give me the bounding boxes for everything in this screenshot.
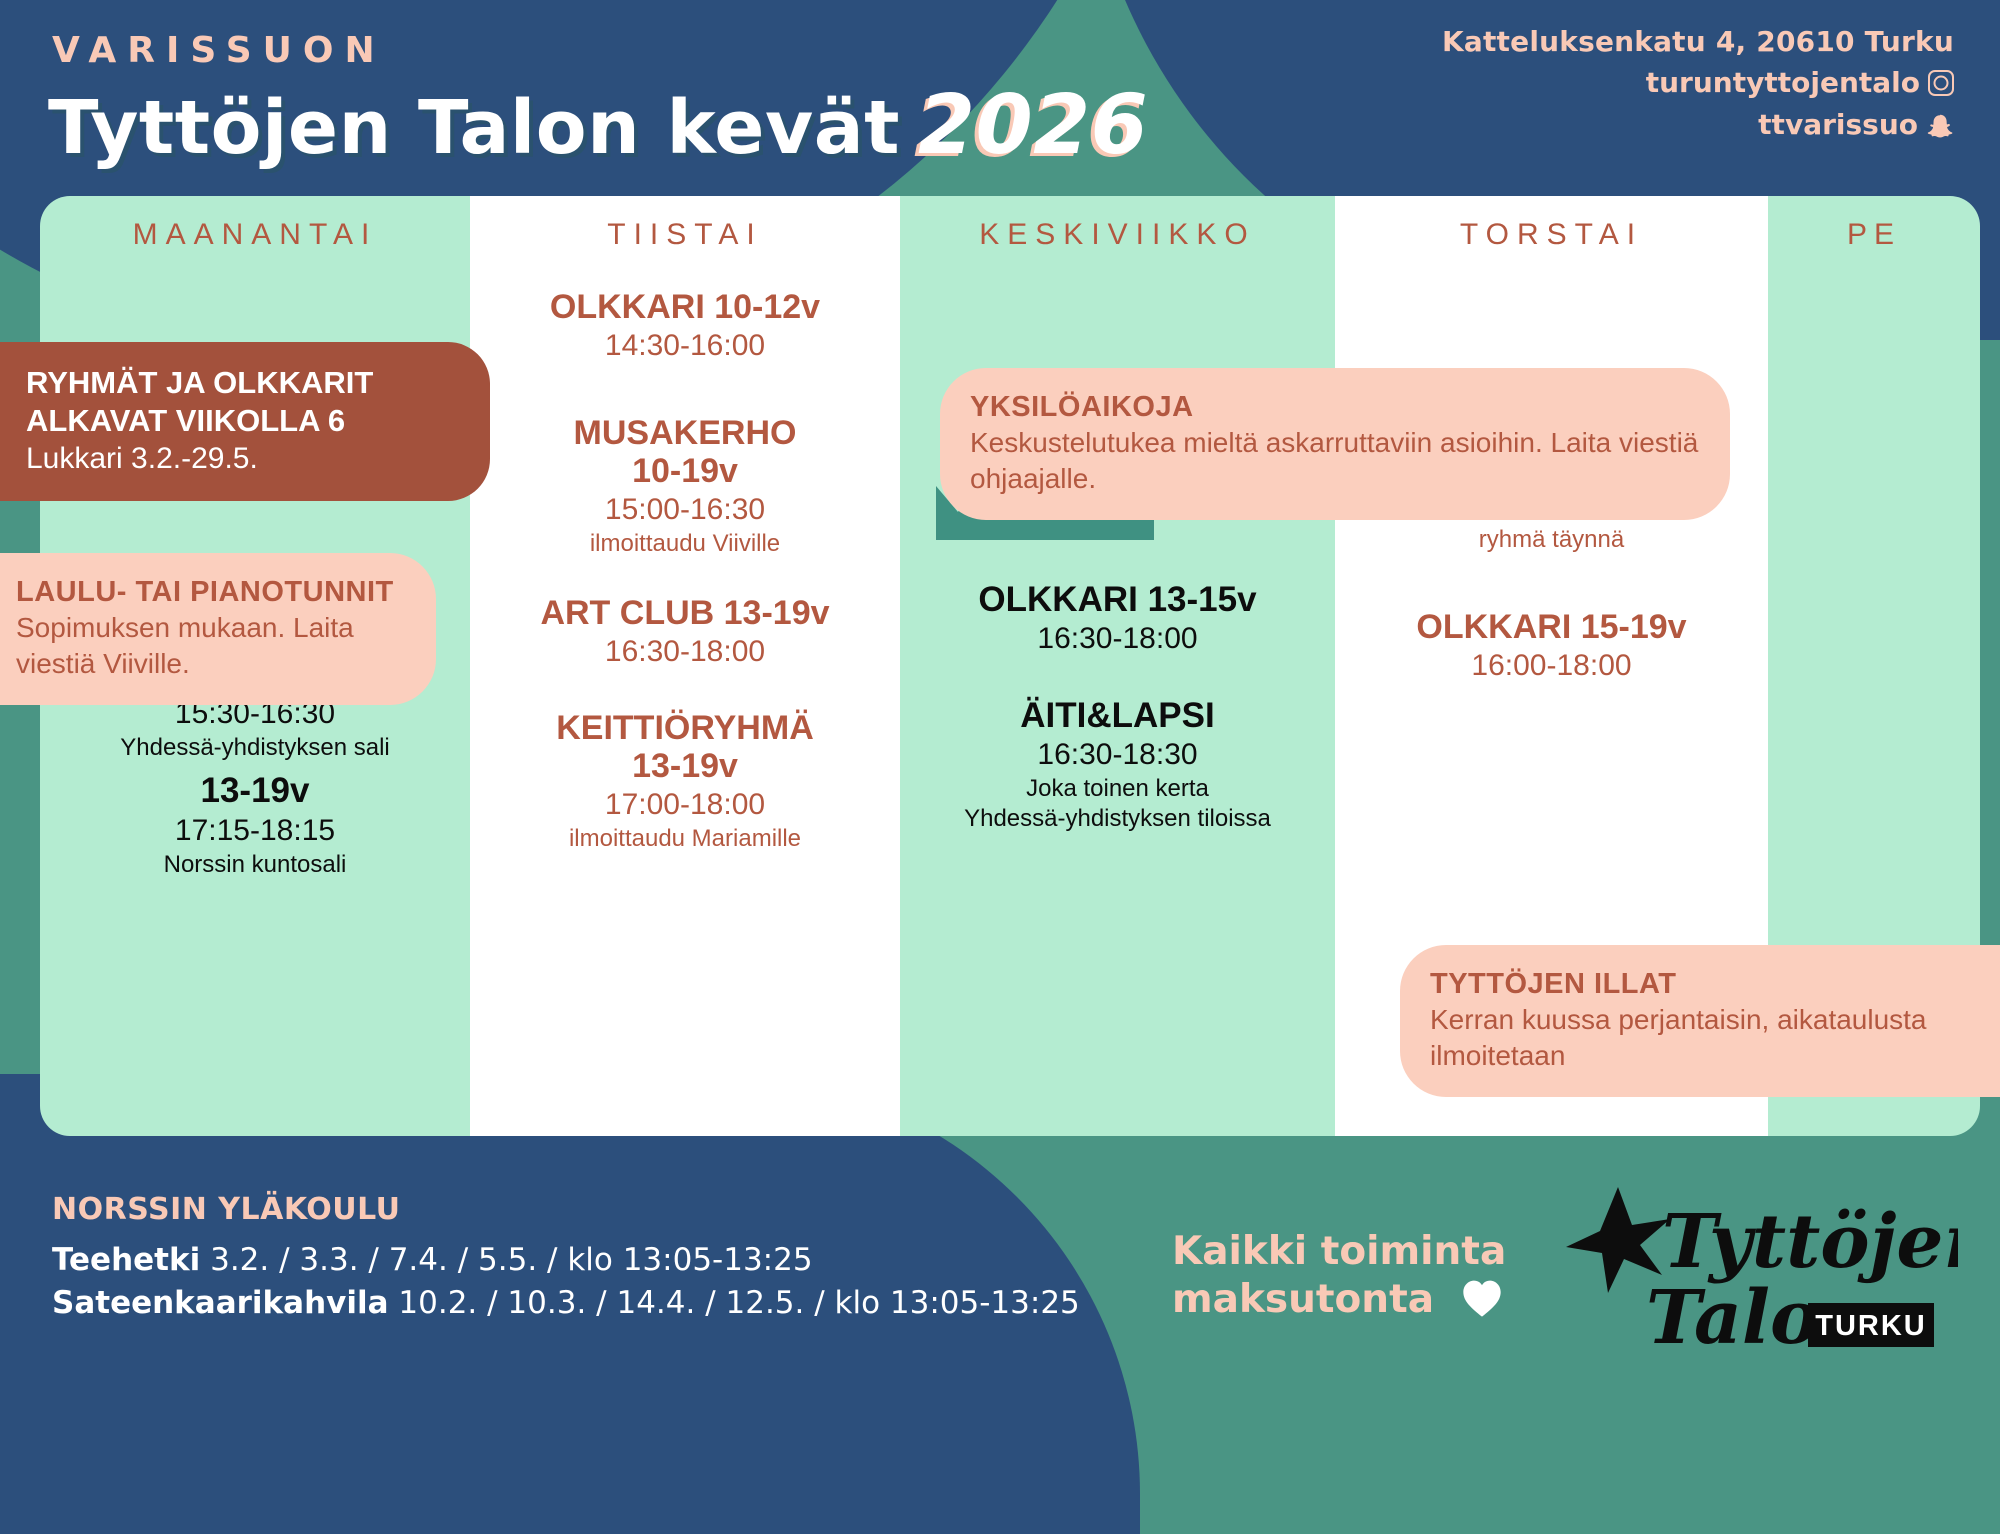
footer-label-sateenkaarikahvila: Sateenkaarikahvila bbox=[52, 1285, 389, 1321]
contact-info: Katteluksenkatu 4, 20610 Turku turuntytt… bbox=[1442, 22, 1954, 146]
wednesday-olkkari-title: OLKKARI 13-15v bbox=[900, 580, 1335, 619]
day-header-tuesday: TIISTAI bbox=[470, 218, 900, 252]
tuesday-keittio-note: ilmoittaudu Mariamille bbox=[470, 824, 900, 854]
free-note-line1: Kaikki toiminta bbox=[1172, 1228, 1506, 1276]
wednesday-pill-title: YKSILÖAIKOJA bbox=[970, 390, 1700, 425]
monday-laulu-piano-pill: LAULU- TAI PIANOTUNNIT Sopimuksen mukaan… bbox=[0, 553, 436, 705]
tuesday-musakerho-title: MUSAKERHO bbox=[470, 414, 900, 452]
snapchat-handle: ttvarissuo bbox=[1758, 104, 1918, 146]
footer-row-sateenkaarikahvila: Sateenkaarikahvila 10.2. / 10.3. / 14.4.… bbox=[52, 1282, 1080, 1325]
thursday-olkkari-title: OLKKARI 15-19v bbox=[1335, 608, 1768, 646]
instagram-row[interactable]: turuntyttojentalo bbox=[1442, 62, 1954, 104]
monday-pill-title: LAULU- TAI PIANOTUNNIT bbox=[16, 575, 406, 610]
free-activity-note: Kaikki toiminta maksutonta bbox=[1172, 1228, 1506, 1323]
thursday-pill-title: TYTTÖJEN ILLAT bbox=[1430, 967, 1990, 1002]
day-header-wednesday: KESKIVIIKKO bbox=[900, 218, 1335, 252]
svg-text:TURKU: TURKU bbox=[1815, 1310, 1927, 1342]
tuesday-olkkari-title: OLKKARI 10-12v bbox=[470, 288, 900, 326]
page-title-text: Tyttöjen Talon kevät bbox=[48, 85, 900, 171]
monday-liikunta-time2: 17:15-18:15 bbox=[40, 811, 470, 850]
day-column-wednesday: KESKIVIIKKO OLKKARI 13-15v 16:30-18:00 Ä… bbox=[900, 196, 1335, 1136]
day-header-thursday: TORSTAI bbox=[1335, 218, 1768, 252]
poster-header: VARISSUON Tyttöjen Talon kevät2026 Katte… bbox=[0, 0, 2000, 196]
footer-row-teehetki: Teehetki 3.2. / 3.3. / 7.4. / 5.5. / klo… bbox=[52, 1239, 1080, 1282]
footer-school-heading: NORSSIN YLÄKOULU bbox=[52, 1192, 1080, 1227]
tuesday-musakerho-time: 15:00-16:30 bbox=[470, 490, 900, 529]
wednesday-aitilapsi-note1: Joka toinen kerta bbox=[900, 774, 1335, 804]
thursday-kotakerho-note: ryhmä täynnä bbox=[1335, 525, 1768, 555]
wednesday-olkkari-block: OLKKARI 13-15v 16:30-18:00 bbox=[900, 580, 1335, 658]
footer-value-sateenkaarikahvila: 10.2. / 10.3. / 14.4. / 12.5. / klo 13:0… bbox=[398, 1285, 1079, 1321]
wednesday-aitilapsi-note2: Yhdessä-yhdistyksen tiloissa bbox=[900, 804, 1335, 834]
svg-text:Tyttöjen: Tyttöjen bbox=[1662, 1199, 1958, 1285]
tyttojen-talo-logo: Tyttöjen Talo TURKU bbox=[1558, 1175, 1958, 1385]
snapchat-row[interactable]: ttvarissuo bbox=[1442, 104, 1954, 146]
free-note-line2-wrap: maksutonta bbox=[1172, 1276, 1506, 1324]
thursday-olkkari-block: OLKKARI 15-19v 16:00-18:00 bbox=[1335, 608, 1768, 685]
thursday-pill-body: Kerran kuussa perjantaisin, aikataulusta… bbox=[1430, 1002, 1990, 1075]
wednesday-yksiloaikoja-pill: YKSILÖAIKOJA Keskustelutukea mieltä aska… bbox=[940, 368, 1730, 520]
thursday-tyttojen-illat-pill: TYTTÖJEN ILLAT Kerran kuussa perjantaisi… bbox=[1400, 945, 2000, 1097]
page-title: Tyttöjen Talon kevät2026 bbox=[48, 78, 1148, 173]
monday-liikunta-note1: Yhdessä-yhdistyksen sali bbox=[40, 733, 470, 763]
day-column-tuesday: TIISTAI OLKKARI 10-12v 14:30-16:00 MUSAK… bbox=[470, 196, 900, 1136]
tuesday-keittio-age: 13-19v bbox=[470, 747, 900, 785]
tuesday-artclub-block: ART CLUB 13-19v 16:30-18:00 bbox=[470, 594, 900, 671]
instagram-icon bbox=[1928, 70, 1954, 96]
footer-school-info: NORSSIN YLÄKOULU Teehetki 3.2. / 3.3. / … bbox=[52, 1192, 1080, 1325]
instagram-handle: turuntyttojentalo bbox=[1646, 62, 1920, 104]
tuesday-keittio-time: 17:00-18:00 bbox=[470, 785, 900, 824]
free-note-line2: maksutonta bbox=[1172, 1277, 1434, 1322]
page-title-year: 2026 bbox=[918, 78, 1148, 173]
tuesday-artclub-time: 16:30-18:00 bbox=[470, 632, 900, 671]
wednesday-olkkari-time: 16:30-18:00 bbox=[900, 619, 1335, 658]
tuesday-musakerho-block: MUSAKERHO 10-19v 15:00-16:30 ilmoittaudu… bbox=[470, 414, 900, 559]
tuesday-keittioryhma-block: KEITTIÖRYHMÄ 13-19v 17:00-18:00 ilmoitta… bbox=[470, 709, 900, 854]
tuesday-artclub-title: ART CLUB 13-19v bbox=[470, 594, 900, 632]
monday-start-week-banner: RYHMÄT JA OLKKARIT ALKAVAT VIIKOLLA 6 Lu… bbox=[0, 342, 490, 501]
monday-pill-body: Sopimuksen mukaan. Laita viestiä Viivill… bbox=[16, 610, 406, 683]
monday-banner-title: RYHMÄT JA OLKKARIT ALKAVAT VIIKOLLA 6 bbox=[26, 364, 458, 440]
address-line: Katteluksenkatu 4, 20610 Turku bbox=[1442, 22, 1954, 62]
footer-label-teehetki: Teehetki bbox=[52, 1242, 200, 1278]
tuesday-olkkari-time: 14:30-16:00 bbox=[470, 326, 900, 365]
monday-banner-subtitle: Lukkari 3.2.-29.5. bbox=[26, 440, 458, 478]
tuesday-musakerho-age: 10-19v bbox=[470, 452, 900, 490]
wednesday-aitilapsi-time: 16:30-18:30 bbox=[900, 735, 1335, 774]
footer-value-teehetki: 3.2. / 3.3. / 7.4. / 5.5. / klo 13:05-13… bbox=[210, 1242, 812, 1278]
day-header-monday: MAANANTAI bbox=[40, 218, 470, 252]
wednesday-aitilapsi-block: ÄITI&LAPSI 16:30-18:30 Joka toinen kerta… bbox=[900, 696, 1335, 834]
day-header-friday: PE bbox=[1768, 218, 1980, 252]
header-kicker: VARISSUON bbox=[52, 30, 386, 71]
tuesday-keittio-title: KEITTIÖRYHMÄ bbox=[470, 709, 900, 747]
wednesday-aitilapsi-title: ÄITI&LAPSI bbox=[900, 696, 1335, 735]
heart-icon bbox=[1460, 1278, 1504, 1318]
snapchat-icon bbox=[1926, 111, 1954, 139]
wednesday-pill-body: Keskustelutukea mieltä askarruttaviin as… bbox=[970, 425, 1700, 498]
thursday-olkkari-time: 16:00-18:00 bbox=[1335, 646, 1768, 685]
tuesday-musakerho-note: ilmoittaudu Viiville bbox=[470, 529, 900, 559]
tuesday-olkkari-block: OLKKARI 10-12v 14:30-16:00 bbox=[470, 288, 900, 365]
monday-liikunta-age2: 13-19v bbox=[40, 771, 470, 810]
monday-liikunta-note2: Norssin kuntosali bbox=[40, 850, 470, 880]
svg-text:Talo: Talo bbox=[1646, 1275, 1819, 1361]
